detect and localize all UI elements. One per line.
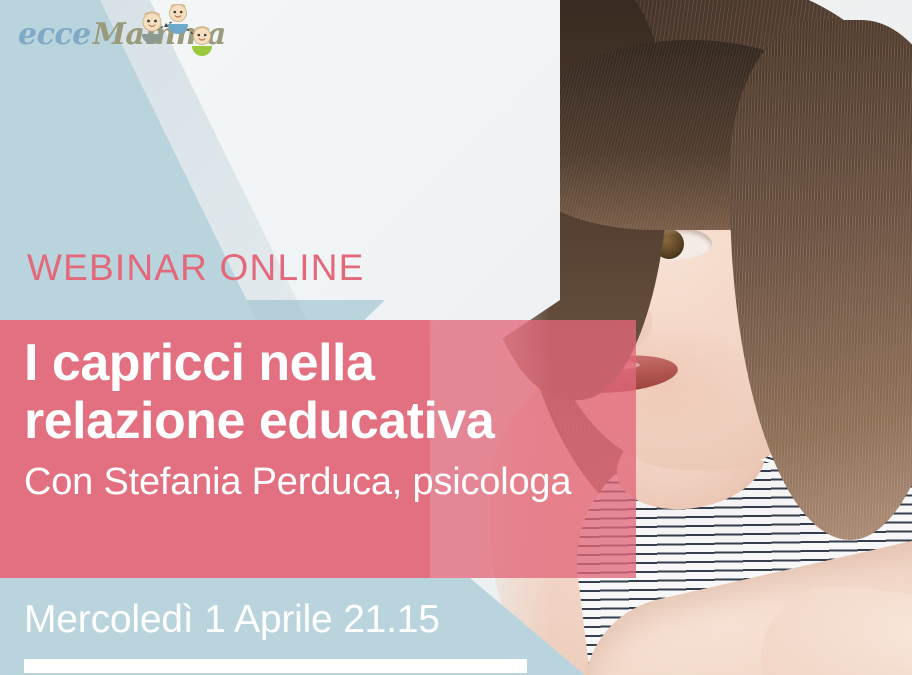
title-line-2: relazione educativa bbox=[24, 392, 624, 450]
event-date-time: Mercoledì 1 Aprile 21.15 bbox=[24, 600, 440, 639]
webinar-flyer: ecceMamma bbox=[0, 0, 912, 675]
three-babies-icon bbox=[134, 4, 224, 56]
speaker-subtitle: Con Stefania Perduca, psicologa bbox=[24, 462, 624, 504]
white-rule-bar bbox=[24, 659, 527, 673]
title-line-1: I capricci nella bbox=[24, 334, 624, 392]
logo-text-ecce: ecce bbox=[18, 20, 91, 50]
webinar-kicker: WEBINAR ONLINE bbox=[27, 249, 365, 286]
ecce-mamma-logo[interactable]: ecceMamma bbox=[18, 20, 226, 50]
banner-text-block: I capricci nella relazione educativa Con… bbox=[24, 334, 624, 504]
